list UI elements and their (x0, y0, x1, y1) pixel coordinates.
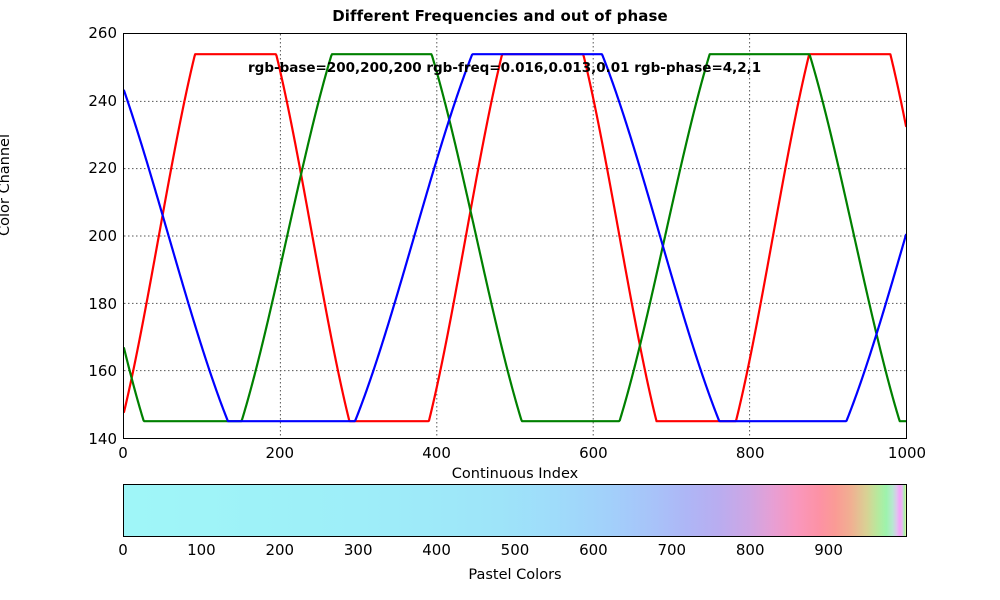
curve-green (124, 54, 906, 421)
plot-area (123, 33, 907, 439)
colorbar-tick-label: 500 (475, 541, 555, 559)
x-tick-label: 800 (710, 444, 790, 462)
colorbar-tick-labels: 0100200300400500600700800900 (123, 541, 907, 563)
colorbar-tick-label: 200 (240, 541, 320, 559)
x-axis-label: Continuous Index (123, 466, 907, 482)
line-chart-svg (124, 34, 906, 438)
data-curves (124, 54, 906, 421)
y-tick-label: 220 (57, 159, 117, 177)
colorbar-tick-label: 600 (553, 541, 633, 559)
colorbar-tick-label: 300 (318, 541, 398, 559)
x-tick-label: 1000 (867, 444, 947, 462)
y-axis-label: Color Channel (0, 134, 13, 236)
gridlines (124, 34, 906, 438)
x-tick-label: 600 (553, 444, 633, 462)
x-tick-label: 200 (240, 444, 320, 462)
colorbar-tick-label: 700 (632, 541, 712, 559)
figure-canvas: Different Frequencies and out of phase C… (0, 0, 1000, 600)
x-tick-label: 400 (397, 444, 477, 462)
y-tick-label: 260 (57, 24, 117, 42)
x-tick-label: 0 (83, 444, 163, 462)
colorbar-gradient (124, 485, 906, 536)
colorbar (123, 484, 907, 537)
y-axis-tick-labels: 140160180200220240260 (53, 33, 117, 439)
colorbar-tick-label: 0 (83, 541, 163, 559)
colorbar-label: Pastel Colors (123, 567, 907, 583)
colorbar-tick-label: 900 (789, 541, 869, 559)
y-tick-label: 240 (57, 92, 117, 110)
colorbar-tick-label: 800 (710, 541, 790, 559)
x-axis-tick-labels: 02004006008001000 (123, 444, 907, 466)
parameter-annotation: rgb-base=200,200,200 rgb-freq=0.016,0.01… (248, 60, 761, 76)
y-tick-label: 180 (57, 295, 117, 313)
page-title: Different Frequencies and out of phase (0, 7, 1000, 25)
curve-blue (124, 54, 906, 421)
colorbar-tick-label: 400 (397, 541, 477, 559)
colorbar-tick-label: 100 (161, 541, 241, 559)
y-tick-label: 200 (57, 227, 117, 245)
y-tick-label: 160 (57, 362, 117, 380)
curve-red (124, 54, 906, 421)
